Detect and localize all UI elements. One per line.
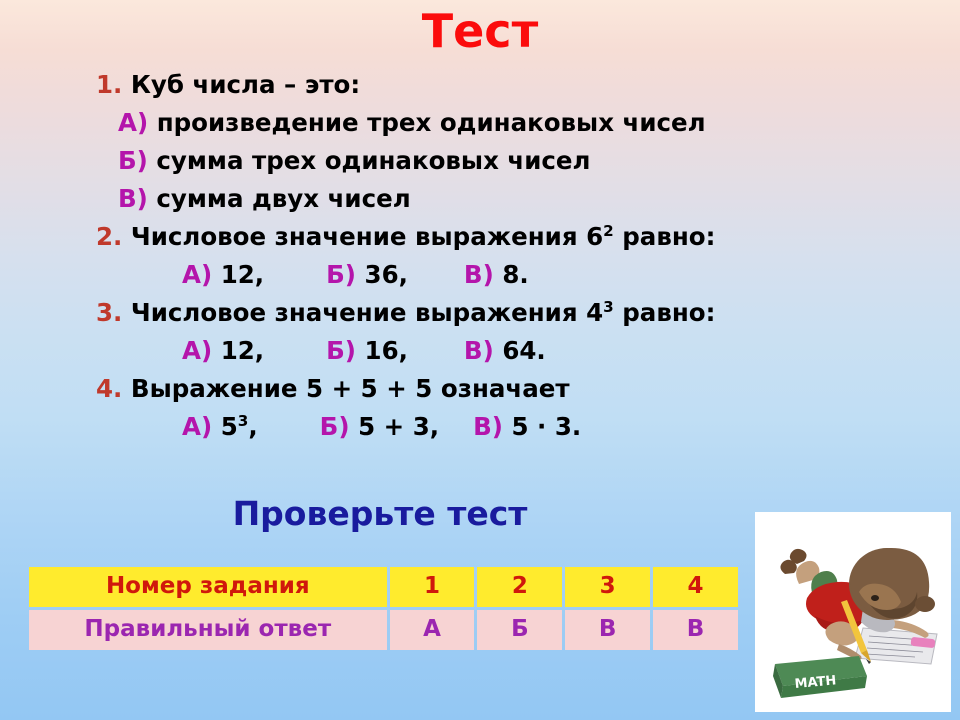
- option-text-b: сумма трех одинаковых чисел: [156, 146, 590, 175]
- question-3-options[interactable]: А) 12,Б) 16,В) 64.: [96, 332, 896, 370]
- questions-block: 1. Куб числа – это: А) произведение трех…: [96, 66, 896, 446]
- question-3-number: 3.: [96, 298, 122, 327]
- option-letter-a: А): [182, 412, 212, 441]
- correct-answer-4: В: [653, 610, 738, 650]
- question-4-text: Выражение 5 + 5 + 5 означает: [131, 374, 570, 403]
- table-row-task-numbers: Номер задания 1 2 3 4: [29, 567, 738, 607]
- correct-answer-3: В: [565, 610, 650, 650]
- answer-key-table: Номер задания 1 2 3 4 Правильный ответ А…: [26, 564, 741, 653]
- option-letter-v: В): [464, 336, 494, 365]
- option-text-v: 64.: [502, 336, 545, 365]
- option-text-a: 12,: [221, 260, 264, 289]
- option-text-b: 16,: [365, 336, 408, 365]
- question-2-text-base: Числовое значение выражения 6: [131, 222, 603, 251]
- question-1-option-v[interactable]: В) сумма двух чисел: [96, 180, 896, 218]
- question-2-number: 2.: [96, 222, 122, 251]
- task-number-4: 4: [653, 567, 738, 607]
- question-1-line: 1. Куб числа – это:: [96, 66, 896, 104]
- option-letter-a: А): [182, 260, 212, 289]
- question-4-options[interactable]: А) 53,Б) 5 + 3,В) 5 · 3.: [96, 408, 896, 446]
- question-3-line: 3. Числовое значение выражения 43 равно:: [96, 294, 896, 332]
- slide-canvas: Тест 1. Куб числа – это: А) произведение…: [0, 0, 960, 720]
- row-label-task-number: Номер задания: [29, 567, 387, 607]
- option-letter-b: Б): [326, 260, 356, 289]
- question-4-number: 4.: [96, 374, 122, 403]
- option-text-v: 8.: [502, 260, 528, 289]
- page-title: Тест: [0, 8, 960, 54]
- option-letter-b: Б): [326, 336, 356, 365]
- question-1-option-b[interactable]: Б) сумма трех одинаковых чисел: [96, 142, 896, 180]
- question-3-text-tail: равно:: [614, 298, 716, 327]
- correct-answer-1: А: [390, 610, 475, 650]
- option-text-a: 12,: [221, 336, 264, 365]
- option-a-exponent: 3: [238, 412, 249, 430]
- question-1-number: 1.: [96, 70, 122, 99]
- section-subtitle: Проверьте тест: [0, 497, 760, 530]
- option-text-a-tail: ,: [248, 412, 257, 441]
- question-1-option-a[interactable]: А) произведение трех одинаковых чисел: [96, 104, 896, 142]
- option-letter-a: А): [118, 108, 148, 137]
- question-3-exponent: 3: [603, 298, 614, 316]
- question-3-text-base: Числовое значение выражения 4: [131, 298, 603, 327]
- option-text-a: произведение трех одинаковых чисел: [157, 108, 706, 137]
- task-number-2: 2: [477, 567, 562, 607]
- child-doing-math-homework-image: MATH: [755, 512, 951, 712]
- clipart-svg: MATH: [755, 512, 951, 712]
- option-text-v: 5 · 3.: [511, 412, 581, 441]
- question-1-text: Куб числа – это:: [131, 70, 360, 99]
- task-number-3: 3: [565, 567, 650, 607]
- option-text-a-base: 5: [221, 412, 238, 441]
- question-2-exponent: 2: [603, 222, 614, 240]
- option-letter-b: Б): [118, 146, 148, 175]
- correct-answer-2: Б: [477, 610, 562, 650]
- row-label-correct-answer: Правильный ответ: [29, 610, 387, 650]
- option-text-b: 5 + 3,: [358, 412, 439, 441]
- option-text-b: 36,: [365, 260, 408, 289]
- option-text-v: сумма двух чисел: [156, 184, 410, 213]
- question-2-line: 2. Числовое значение выражения 62 равно:: [96, 218, 896, 256]
- option-letter-v: В): [118, 184, 148, 213]
- option-letter-b: Б): [320, 412, 350, 441]
- task-number-1: 1: [390, 567, 475, 607]
- table-row-correct-answers: Правильный ответ А Б В В: [29, 610, 738, 650]
- question-2-options[interactable]: А) 12,Б) 36,В) 8.: [96, 256, 896, 294]
- question-2-text-tail: равно:: [614, 222, 716, 251]
- option-letter-a: А): [182, 336, 212, 365]
- option-letter-v: В): [464, 260, 494, 289]
- option-letter-v: В): [473, 412, 503, 441]
- question-4-line: 4. Выражение 5 + 5 + 5 означает: [96, 370, 896, 408]
